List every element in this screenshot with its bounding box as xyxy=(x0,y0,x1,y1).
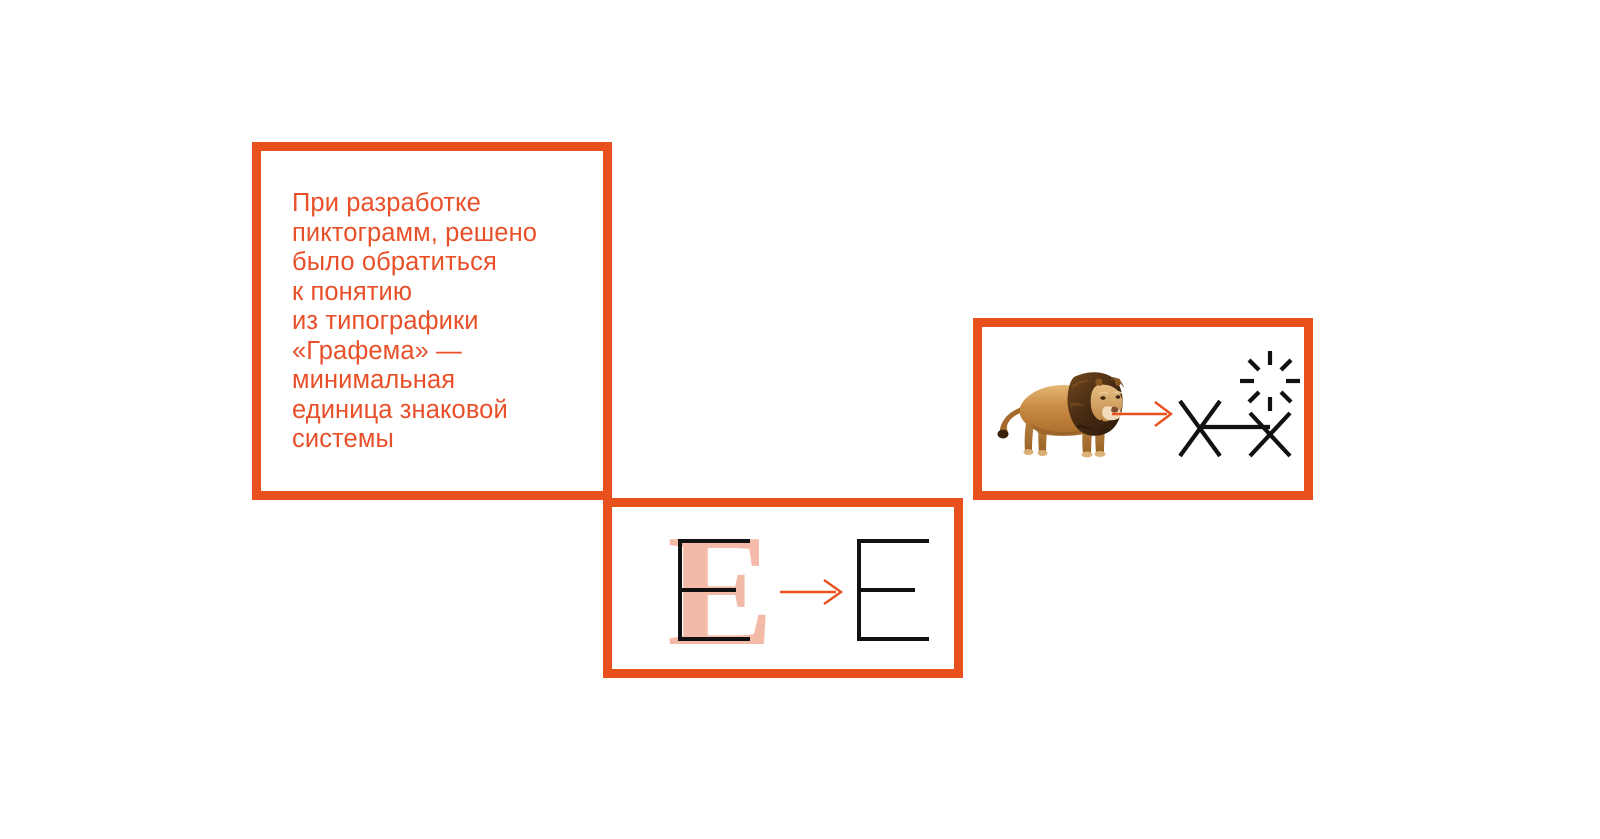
letter-bottom-arm xyxy=(857,637,929,641)
letter-mid-arm xyxy=(857,588,915,592)
slide-canvas: При разработке пиктограмм, решено было о… xyxy=(0,0,1600,839)
lion-pictogram-icon xyxy=(1174,351,1302,469)
lion-card-panel xyxy=(973,318,1313,500)
letter-stack: Е xyxy=(667,533,753,647)
letter-card-row: Е xyxy=(612,507,954,669)
text-card-body: При разработке пиктограмм, решено было о… xyxy=(292,189,602,455)
skeleton-letter-icon xyxy=(857,539,929,641)
letter-bottom-arm xyxy=(678,637,750,641)
letter-top-arm xyxy=(857,539,929,543)
arrow-right-icon xyxy=(780,577,844,607)
letter-card-panel: Е xyxy=(603,498,963,678)
letter-mid-arm xyxy=(678,588,736,592)
text-card-panel: При разработке пиктограмм, решено было о… xyxy=(252,142,612,500)
letter-top-arm xyxy=(678,539,750,543)
skeleton-letter-overlay-icon xyxy=(678,539,750,641)
lion-photo-icon xyxy=(992,355,1128,465)
